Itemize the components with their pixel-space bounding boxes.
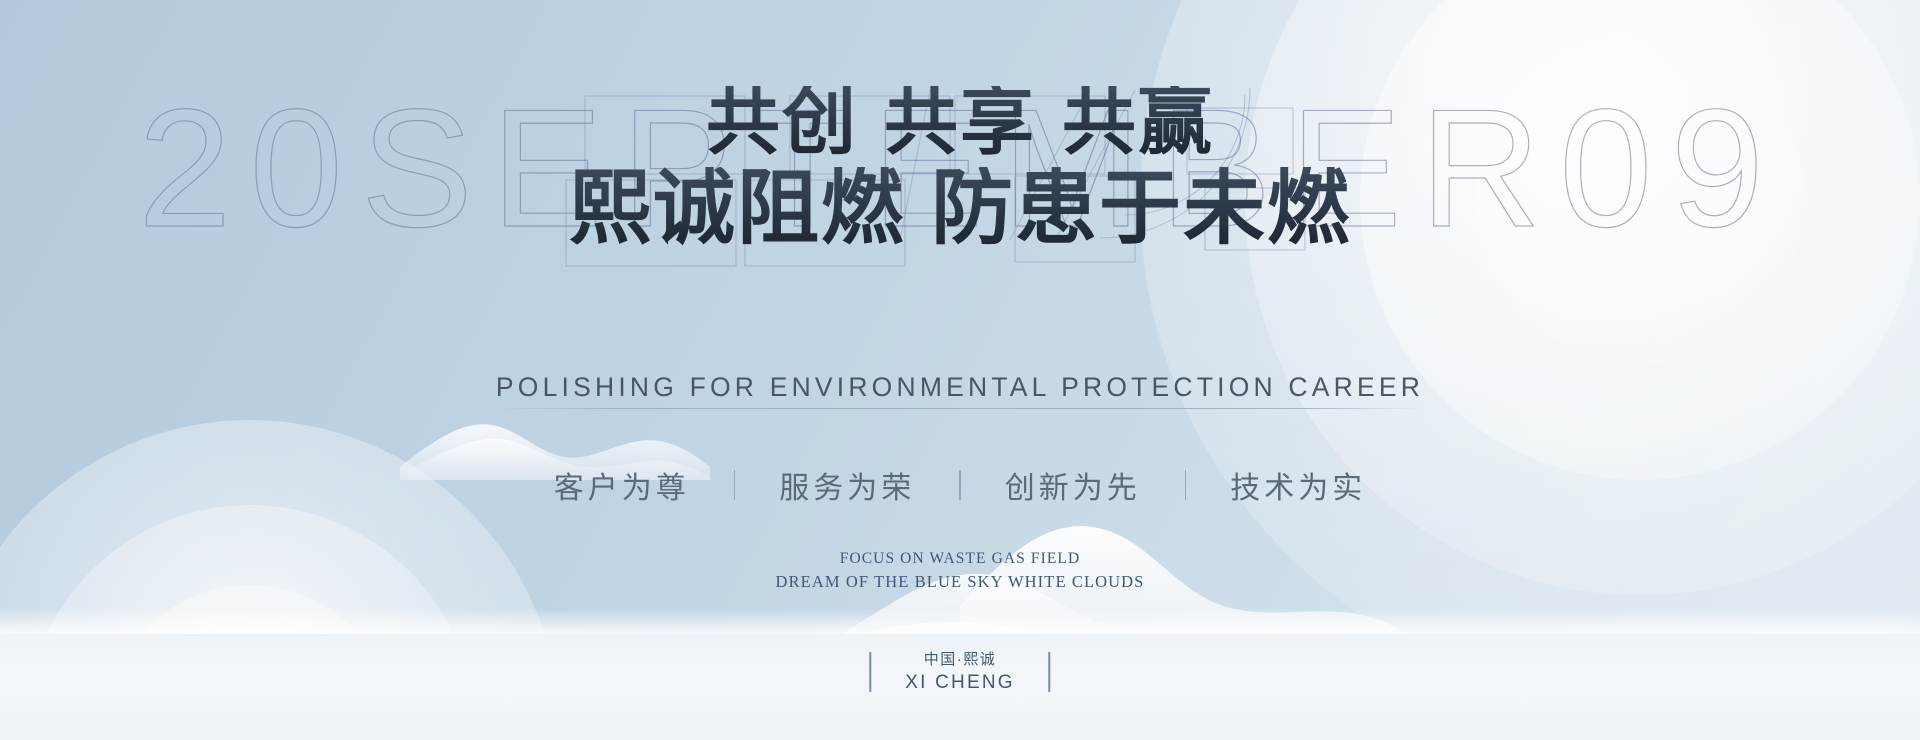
headline-word-3: 共赢 <box>1062 82 1214 164</box>
value-item-2: 服务为荣 <box>779 463 915 507</box>
badge-chinese-name: 中国·熙诚 <box>924 651 997 668</box>
value-item-1: 客户为尊 <box>554 463 690 507</box>
headline-line-2: 熙诚阻燃防患于未燃 <box>0 167 1920 251</box>
serif-subtitle-block: FOCUS ON WASTE GAS FIELD DREAM OF THE BL… <box>0 548 1920 593</box>
badge-bar-left <box>869 652 871 692</box>
badge-bar-right <box>1049 652 1051 692</box>
subtitle-line-2: DREAM OF THE BLUE SKY WHITE CLOUDS <box>0 570 1920 593</box>
badge-text: 中国·熙诚 XI CHENG <box>905 649 1014 696</box>
brand-badge: 中国·熙诚 XI CHENG <box>869 649 1050 696</box>
headline-phrase-2: 防患于未燃 <box>931 163 1351 254</box>
tagline-underline <box>500 408 1420 409</box>
headline-word-2: 共享 <box>884 82 1036 164</box>
value-separator <box>734 470 736 500</box>
subtitle-line-1: FOCUS ON WASTE GAS FIELD <box>0 548 1920 570</box>
horizon-sheen <box>0 608 1920 634</box>
value-item-3: 创新为先 <box>1005 463 1141 507</box>
value-item-4: 技术为实 <box>1230 463 1366 507</box>
headline-line-1: 共创共享共赢 <box>0 86 1920 161</box>
headline-phrase-1: 熙诚阻燃 <box>569 163 905 254</box>
badge-english-name: XI CHENG <box>905 672 1014 693</box>
value-separator <box>1185 470 1187 500</box>
english-tagline: POLISHING FOR ENVIRONMENTAL PROTECTION C… <box>0 372 1920 403</box>
headline-group: 共创共享共赢 熙诚阻燃防患于未燃 <box>0 86 1920 251</box>
value-separator <box>959 470 961 500</box>
values-row: 客户为尊 服务为荣 创新为先 技术为实 <box>0 463 1920 507</box>
promo-banner: 20SEPTEMBER09 <box>0 0 1920 740</box>
headline-word-1: 共创 <box>706 82 858 164</box>
